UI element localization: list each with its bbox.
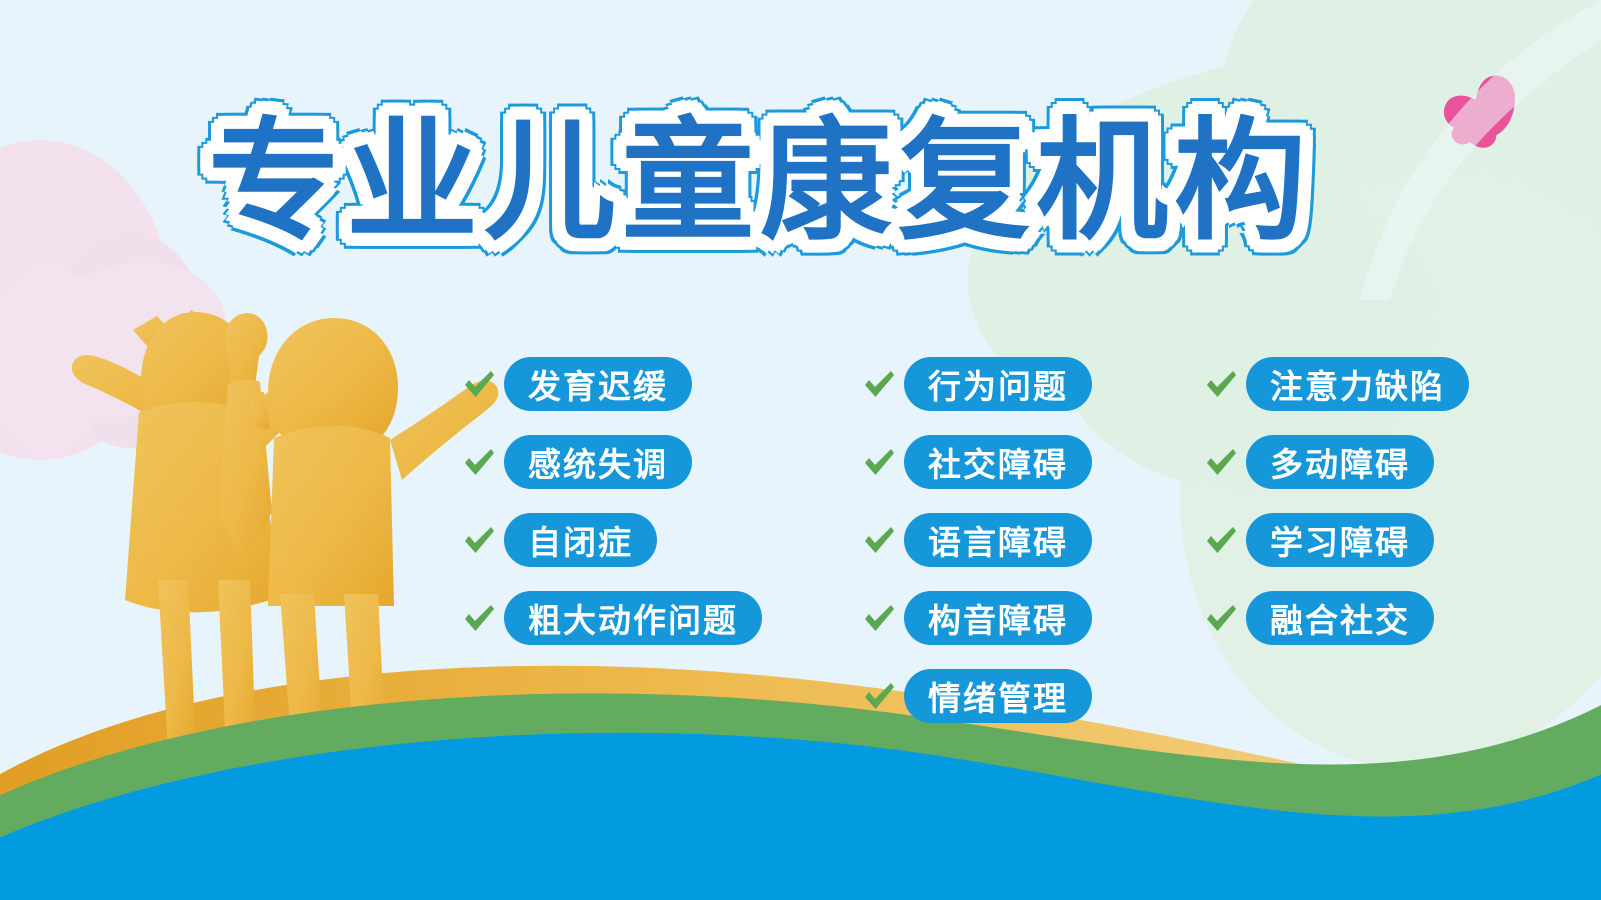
check-icon (862, 601, 896, 635)
poster-title-text: 专业儿童康复机构 (208, 116, 1312, 248)
badge-row[interactable]: 多动障碍 (1204, 434, 1469, 490)
badge-column-2: 行为问题社交障碍语言障碍构音障碍情绪管理 (862, 356, 1092, 724)
check-icon (462, 523, 496, 557)
badge-row[interactable]: 社交障碍 (862, 434, 1092, 490)
check-icon (862, 367, 896, 401)
service-badge[interactable]: 社交障碍 (904, 435, 1092, 489)
badge-column-3: 注意力缺陷多动障碍学习障碍融合社交 (1204, 356, 1469, 646)
check-icon (1204, 367, 1238, 401)
poster-title: 专业儿童康复机构 (0, 116, 1520, 248)
service-badge[interactable]: 语言障碍 (904, 513, 1092, 567)
badge-column-1: 发育迟缓感统失调自闭症粗大动作问题 (462, 356, 762, 646)
service-badge[interactable]: 情绪管理 (904, 669, 1092, 723)
badge-row[interactable]: 学习障碍 (1204, 512, 1469, 568)
check-icon (462, 601, 496, 635)
service-badge[interactable]: 注意力缺陷 (1246, 357, 1469, 411)
badge-row[interactable]: 注意力缺陷 (1204, 356, 1469, 412)
badge-row[interactable]: 感统失调 (462, 434, 762, 490)
service-badge[interactable]: 融合社交 (1246, 591, 1434, 645)
poster-canvas: 专业儿童康复机构 发育迟缓感统失调自闭症粗大动作问题 行为问题社交障碍语言障碍构… (0, 0, 1601, 900)
badge-row[interactable]: 语言障碍 (862, 512, 1092, 568)
check-icon (462, 367, 496, 401)
check-icon (1204, 601, 1238, 635)
service-badge[interactable]: 自闭症 (504, 513, 657, 567)
service-badge[interactable]: 粗大动作问题 (504, 591, 762, 645)
badge-row[interactable]: 构音障碍 (862, 590, 1092, 646)
check-icon (1204, 445, 1238, 479)
badge-row[interactable]: 自闭症 (462, 512, 762, 568)
check-icon (462, 445, 496, 479)
check-icon (862, 445, 896, 479)
service-badge[interactable]: 行为问题 (904, 357, 1092, 411)
service-badge[interactable]: 感统失调 (504, 435, 692, 489)
check-icon (1204, 523, 1238, 557)
check-icon (862, 523, 896, 557)
badge-row[interactable]: 情绪管理 (862, 668, 1092, 724)
service-badge[interactable]: 学习障碍 (1246, 513, 1434, 567)
badge-row[interactable]: 融合社交 (1204, 590, 1469, 646)
badge-row[interactable]: 行为问题 (862, 356, 1092, 412)
service-badge[interactable]: 构音障碍 (904, 591, 1092, 645)
badge-row[interactable]: 粗大动作问题 (462, 590, 762, 646)
badge-row[interactable]: 发育迟缓 (462, 356, 762, 412)
check-icon (862, 679, 896, 713)
service-badge[interactable]: 发育迟缓 (504, 357, 692, 411)
service-badge[interactable]: 多动障碍 (1246, 435, 1434, 489)
